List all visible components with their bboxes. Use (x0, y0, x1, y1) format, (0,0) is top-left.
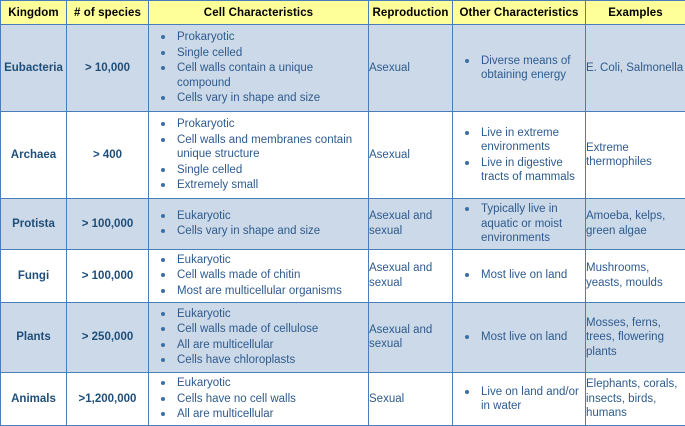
other-characteristic-item: Live in extreme environments (461, 126, 581, 155)
cell-characteristic-item: Cell walls made of cellulose (157, 322, 364, 337)
other-characteristic-item-list: Most live on land (453, 268, 585, 283)
cell-characteristic-item-list: ProkaryoticSingle celledCell walls conta… (149, 30, 368, 106)
cell-kingdom: Archaea (1, 112, 67, 199)
other-characteristic-item-list: Most live on land (453, 330, 585, 345)
cell-characteristic-item: Cells have chloroplasts (157, 353, 364, 368)
cell-kingdom: Protista (1, 199, 67, 250)
cell-characteristic-item-list: ProkaryoticCell walls and membranes cont… (149, 117, 368, 193)
cell-species-count: > 400 (67, 112, 149, 199)
cell-reproduction: Asexual (369, 25, 453, 112)
other-characteristic-item-list: Diverse means of obtaining energy (453, 54, 585, 83)
cell-cell-characteristics: EukaryoticCells have no cell wallsAll ar… (149, 373, 369, 426)
other-characteristic-item-list: Live on land and/or in water (453, 385, 585, 414)
other-characteristic-item: Live on land and/or in water (461, 385, 581, 414)
cell-kingdom: Plants (1, 302, 67, 373)
cell-characteristic-item: Eukaryotic (157, 209, 364, 224)
table-row: Protista> 100,000EukaryoticCells vary in… (1, 199, 685, 250)
cell-examples: Elephants, corals, insects, birds, human… (586, 373, 685, 426)
table-row: Eubacteria> 10,000ProkaryoticSingle cell… (1, 25, 685, 112)
cell-characteristic-item: Extremely small (157, 178, 364, 193)
cell-kingdom: Fungi (1, 249, 67, 302)
cell-cell-characteristics: EukaryoticCell walls made of celluloseAl… (149, 302, 369, 373)
other-characteristic-item-list: Live in extreme environmentsLive in dige… (453, 126, 585, 185)
cell-characteristic-item: Prokaryotic (157, 117, 364, 132)
column-header-species: # of species (67, 1, 149, 25)
cell-characteristic-item: Single celled (157, 46, 364, 61)
cell-characteristic-item: Cell walls and membranes contain unique … (157, 133, 364, 162)
other-characteristic-item: Live in digestive tracts of mammals (461, 156, 581, 185)
cell-other-characteristics: Most live on land (453, 302, 586, 373)
cell-reproduction: Asexual and sexual (369, 302, 453, 373)
cell-reproduction: Sexual (369, 373, 453, 426)
cell-species-count: > 10,000 (67, 25, 149, 112)
cell-other-characteristics: Diverse means of obtaining energy (453, 25, 586, 112)
cell-characteristic-item: Eukaryotic (157, 253, 364, 268)
cell-examples: Extreme thermophiles (586, 112, 685, 199)
cell-cell-characteristics: EukaryoticCells vary in shape and size (149, 199, 369, 250)
cell-examples: E. Coli, Salmonella (586, 25, 685, 112)
cell-cell-characteristics: ProkaryoticSingle celledCell walls conta… (149, 25, 369, 112)
column-header-reproduction: Reproduction (369, 1, 453, 25)
cell-species-count: > 250,000 (67, 302, 149, 373)
cell-examples: Amoeba, kelps, green algae (586, 199, 685, 250)
cell-examples: Mushrooms, yeasts, moulds (586, 249, 685, 302)
cell-reproduction: Asexual and sexual (369, 199, 453, 250)
column-header-other_char: Other Characteristics (453, 1, 586, 25)
table-body: Eubacteria> 10,000ProkaryoticSingle cell… (1, 25, 685, 426)
other-characteristic-item: Most live on land (461, 268, 581, 283)
header-row: Kingdom# of speciesCell CharacteristicsR… (1, 1, 685, 25)
table-row: Plants> 250,000EukaryoticCell walls made… (1, 302, 685, 373)
cell-kingdom: Eubacteria (1, 25, 67, 112)
cell-species-count: > 100,000 (67, 249, 149, 302)
cell-other-characteristics: Live in extreme environmentsLive in dige… (453, 112, 586, 199)
cell-characteristic-item: Prokaryotic (157, 30, 364, 45)
cell-characteristic-item: Cells have no cell walls (157, 392, 364, 407)
cell-species-count: >1,200,000 (67, 373, 149, 426)
cell-reproduction: Asexual (369, 112, 453, 199)
table-header: Kingdom# of speciesCell CharacteristicsR… (1, 1, 685, 25)
cell-characteristic-item: Eukaryotic (157, 307, 364, 322)
cell-characteristic-item-list: EukaryoticCells have no cell wallsAll ar… (149, 376, 368, 422)
cell-characteristic-item: All are multicellular (157, 407, 364, 422)
cell-other-characteristics: Typically live in aquatic or moist envir… (453, 199, 586, 250)
other-characteristic-item: Most live on land (461, 330, 581, 345)
cell-examples: Mosses, ferns, trees, flowering plants (586, 302, 685, 373)
cell-characteristic-item: Single celled (157, 163, 364, 178)
cell-cell-characteristics: ProkaryoticCell walls and membranes cont… (149, 112, 369, 199)
other-characteristic-item: Typically live in aquatic or moist envir… (461, 202, 581, 246)
cell-characteristic-item-list: EukaryoticCell walls made of chitinMost … (149, 253, 368, 299)
table-row: Archaea> 400ProkaryoticCell walls and me… (1, 112, 685, 199)
cell-other-characteristics: Live on land and/or in water (453, 373, 586, 426)
cell-reproduction: Asexual and sexual (369, 249, 453, 302)
cell-kingdom: Animals (1, 373, 67, 426)
other-characteristic-item: Diverse means of obtaining energy (461, 54, 581, 83)
table-row: Fungi> 100,000EukaryoticCell walls made … (1, 249, 685, 302)
cell-characteristic-item: Cell walls contain a unique compound (157, 61, 364, 90)
cell-characteristic-item: All are multicellular (157, 338, 364, 353)
cell-characteristic-item: Cells vary in shape and size (157, 91, 364, 106)
table-row: Animals>1,200,000EukaryoticCells have no… (1, 373, 685, 426)
cell-characteristic-item: Most are multicellular organisms (157, 284, 364, 299)
cell-species-count: > 100,000 (67, 199, 149, 250)
cell-cell-characteristics: EukaryoticCell walls made of chitinMost … (149, 249, 369, 302)
cell-characteristic-item: Eukaryotic (157, 376, 364, 391)
cell-characteristic-item-list: EukaryoticCell walls made of celluloseAl… (149, 307, 368, 368)
column-header-examples: Examples (586, 1, 685, 25)
cell-characteristic-item: Cells vary in shape and size (157, 224, 364, 239)
column-header-kingdom: Kingdom (1, 1, 67, 25)
column-header-cell_char: Cell Characteristics (149, 1, 369, 25)
cell-characteristic-item: Cell walls made of chitin (157, 268, 364, 283)
other-characteristic-item-list: Typically live in aquatic or moist envir… (453, 202, 585, 246)
cell-characteristic-item-list: EukaryoticCells vary in shape and size (149, 209, 368, 239)
cell-other-characteristics: Most live on land (453, 249, 586, 302)
kingdom-comparison-table: Kingdom# of speciesCell CharacteristicsR… (0, 0, 685, 426)
